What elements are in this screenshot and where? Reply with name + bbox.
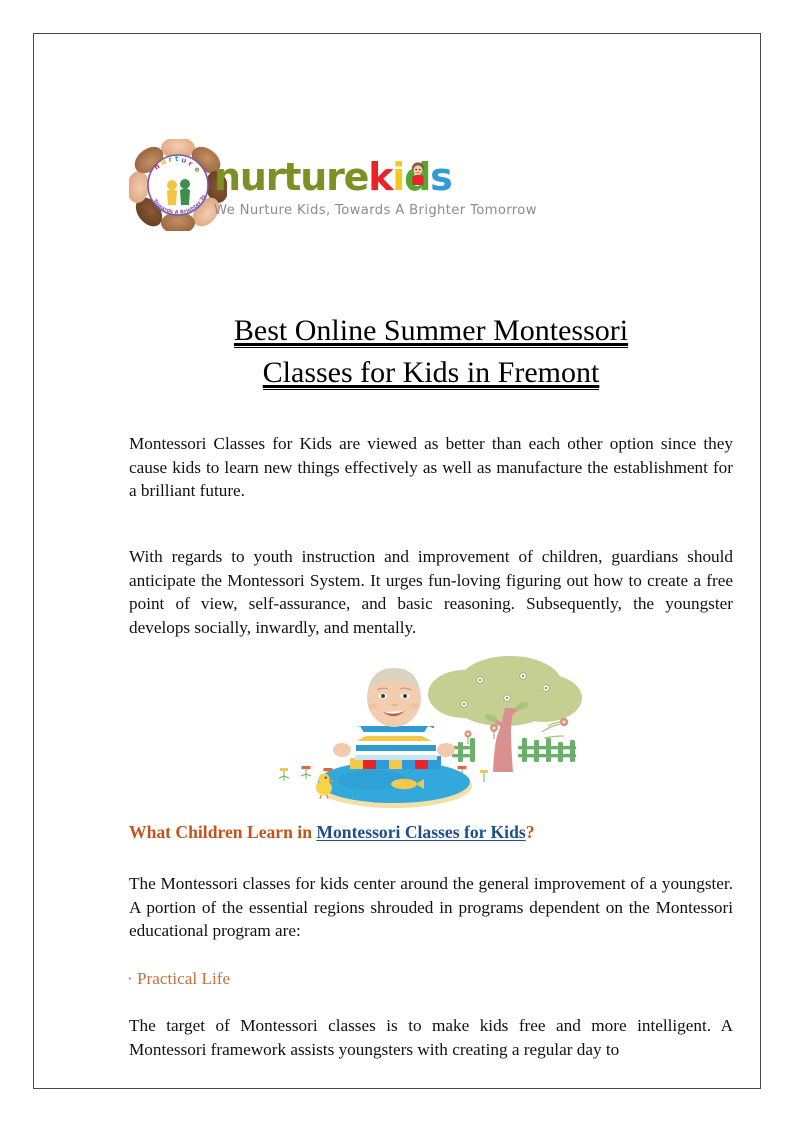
- wordmark-i: i: [392, 155, 404, 199]
- page-frame: n u r t u r e Towards A: [33, 33, 761, 1089]
- subheading-practical-life: · Practical Life: [127, 968, 731, 990]
- logo-wordmark: nurturekids: [214, 157, 659, 197]
- section-heading-prefix: What Children Learn in: [129, 822, 316, 842]
- montessori-classes-link[interactable]: Montessori Classes for Kids: [316, 822, 525, 842]
- paragraph-general-improvement: The Montessori classes for kids center a…: [129, 872, 733, 943]
- hands-circle-emblem-icon: n u r t u r e Towards A: [129, 139, 227, 231]
- page-title-line1: Best Online Summer Montessori: [234, 314, 628, 348]
- paragraph-practical-life-body: The target of Montessori classes is to m…: [129, 1014, 733, 1061]
- boy-figure-icon: [408, 161, 428, 187]
- wordmark-k: k: [368, 155, 392, 199]
- fence: [452, 738, 576, 762]
- paragraph-intro: Montessori Classes for Kids are viewed a…: [129, 432, 733, 503]
- site-logo[interactable]: n u r t u r e Towards A: [129, 139, 659, 239]
- wordmark-d: d: [404, 155, 430, 199]
- logo-text-wrap: nurturekids We Nurture Kids, Towards A B…: [214, 157, 659, 218]
- page-title-line2: Classes for Kids in Fremont: [263, 356, 600, 390]
- wordmark-s: s: [430, 155, 451, 199]
- section-heading-suffix: ?: [526, 822, 535, 842]
- child-playing-blocks-illustration: [272, 646, 612, 814]
- logo-tagline: We Nurture Kids, Towards A Brighter Tomo…: [214, 203, 659, 218]
- section-heading-what-children-learn: What Children Learn in Montessori Classe…: [129, 821, 733, 843]
- paragraph-montessori-system: With regards to youth instruction and im…: [129, 545, 733, 639]
- page-title: Best Online Summer Montessori Classes fo…: [129, 310, 733, 394]
- wordmark-nurture: nurture: [214, 155, 368, 199]
